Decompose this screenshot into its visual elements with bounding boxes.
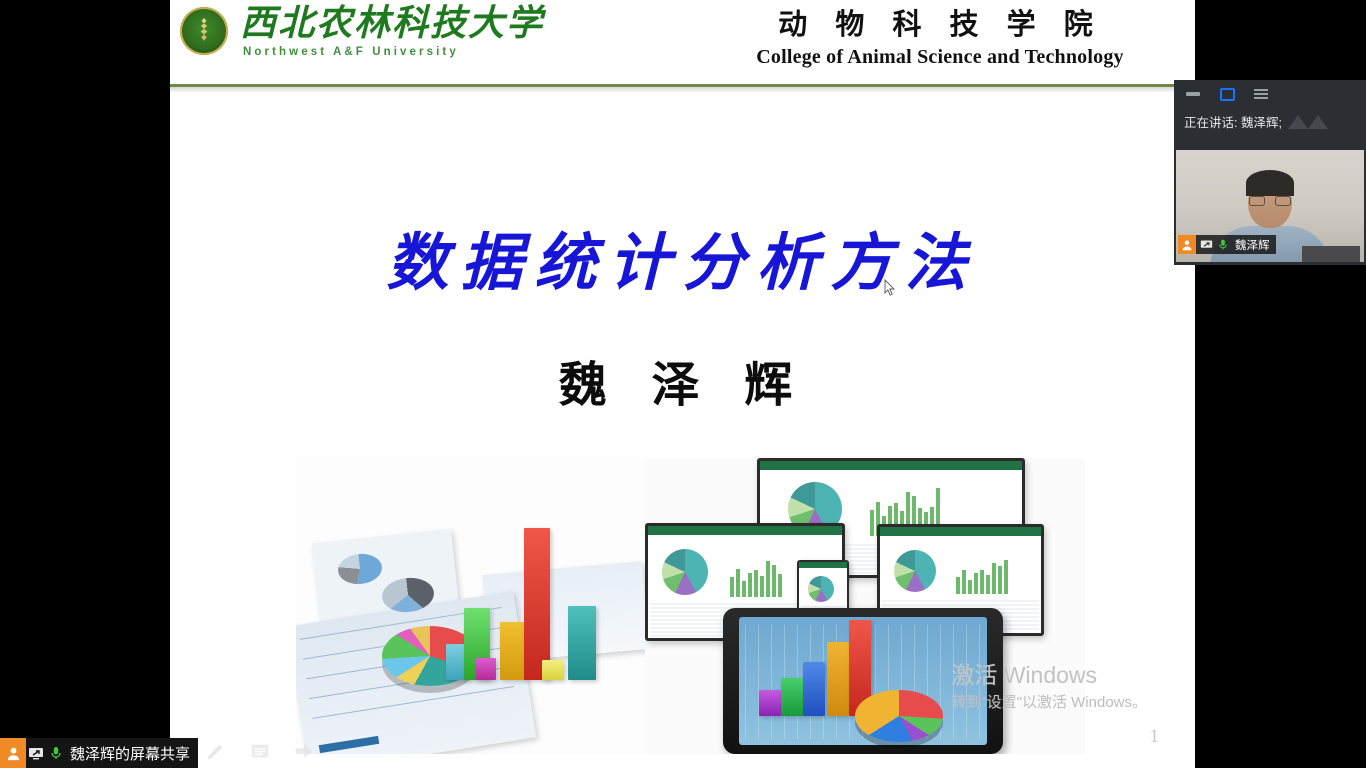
university-name-block: 西北农林科技大学 Northwest A&F University bbox=[240, 4, 544, 58]
bar-magenta bbox=[476, 658, 496, 680]
screen-share-label: 魏泽辉的屏幕共享 bbox=[66, 743, 198, 764]
bar-red bbox=[524, 528, 550, 680]
minimize-icon[interactable] bbox=[1184, 86, 1202, 102]
participant-name: 魏泽辉 bbox=[1233, 237, 1270, 253]
presentation-toolbar[interactable] bbox=[205, 740, 315, 762]
college-name-block: 动 物 科 技 学 院 College of Animal Science an… bbox=[700, 6, 1180, 69]
desk-object bbox=[1302, 246, 1360, 262]
university-name-en: Northwest A&F University bbox=[240, 46, 544, 58]
presentation-slide: 西北农林科技大学 Northwest A&F University 动 物 科 … bbox=[170, 0, 1195, 768]
video-panel-toolbar bbox=[1174, 80, 1366, 108]
microphone-icon[interactable] bbox=[46, 742, 66, 764]
video-panel: 正在讲话: 魏泽辉; bbox=[1174, 80, 1366, 265]
microphone-icon bbox=[1216, 238, 1230, 252]
next-slide-icon[interactable] bbox=[293, 740, 315, 762]
pen-icon[interactable] bbox=[205, 740, 227, 762]
screen-root: 西北农林科技大学 Northwest A&F University 动 物 科 … bbox=[0, 0, 1366, 768]
bar-yellow bbox=[500, 622, 526, 680]
page-title: 数据统计分析方法 bbox=[170, 212, 1195, 302]
university-emblem-icon bbox=[180, 7, 228, 55]
university-logo: 西北农林科技大学 Northwest A&F University bbox=[180, 4, 544, 58]
participant-icon[interactable] bbox=[0, 738, 26, 768]
notes-icon[interactable] bbox=[249, 740, 271, 762]
screen-share-bar[interactable]: 魏泽辉的屏幕共享 bbox=[0, 738, 198, 768]
participant-video[interactable]: 魏泽辉 bbox=[1176, 150, 1364, 262]
participant-icon bbox=[1178, 235, 1196, 254]
header-divider-gray bbox=[170, 87, 1195, 92]
video-window-icon[interactable] bbox=[1218, 86, 1236, 102]
university-name-cn: 西北农林科技大学 bbox=[240, 4, 544, 43]
audio-wave-icon bbox=[1282, 111, 1334, 131]
illustration-3d-charts bbox=[296, 458, 646, 754]
bar-teal bbox=[568, 606, 596, 680]
college-name-cn: 动 物 科 技 学 院 bbox=[700, 6, 1180, 42]
bar-lightyellow bbox=[542, 660, 564, 680]
watermark-line2: 转到"设置"以激活 Windows。 bbox=[951, 691, 1147, 712]
participant-hair bbox=[1246, 170, 1294, 196]
speaking-status: 正在讲话: 魏泽辉; bbox=[1174, 108, 1366, 135]
presenter-name: 魏 泽 辉 bbox=[170, 345, 1195, 415]
screen-share-icon bbox=[1199, 238, 1213, 252]
college-name-en: College of Animal Science and Technology bbox=[700, 46, 1180, 69]
watermark-line1: 激活 Windows bbox=[951, 662, 1147, 688]
participant-nameplate: 魏泽辉 bbox=[1178, 235, 1276, 254]
windows-activation-watermark: 激活 Windows 转到"设置"以激活 Windows。 bbox=[951, 662, 1147, 712]
slide-number: 1 bbox=[1150, 726, 1160, 748]
speaking-status-label: 正在讲话: 魏泽辉; bbox=[1184, 112, 1282, 131]
slide-header: 西北农林科技大学 Northwest A&F University 动 物 科 … bbox=[170, 0, 1195, 88]
screen-share-icon[interactable] bbox=[26, 742, 46, 764]
menu-icon[interactable] bbox=[1252, 86, 1270, 102]
participant-glasses bbox=[1249, 196, 1291, 206]
